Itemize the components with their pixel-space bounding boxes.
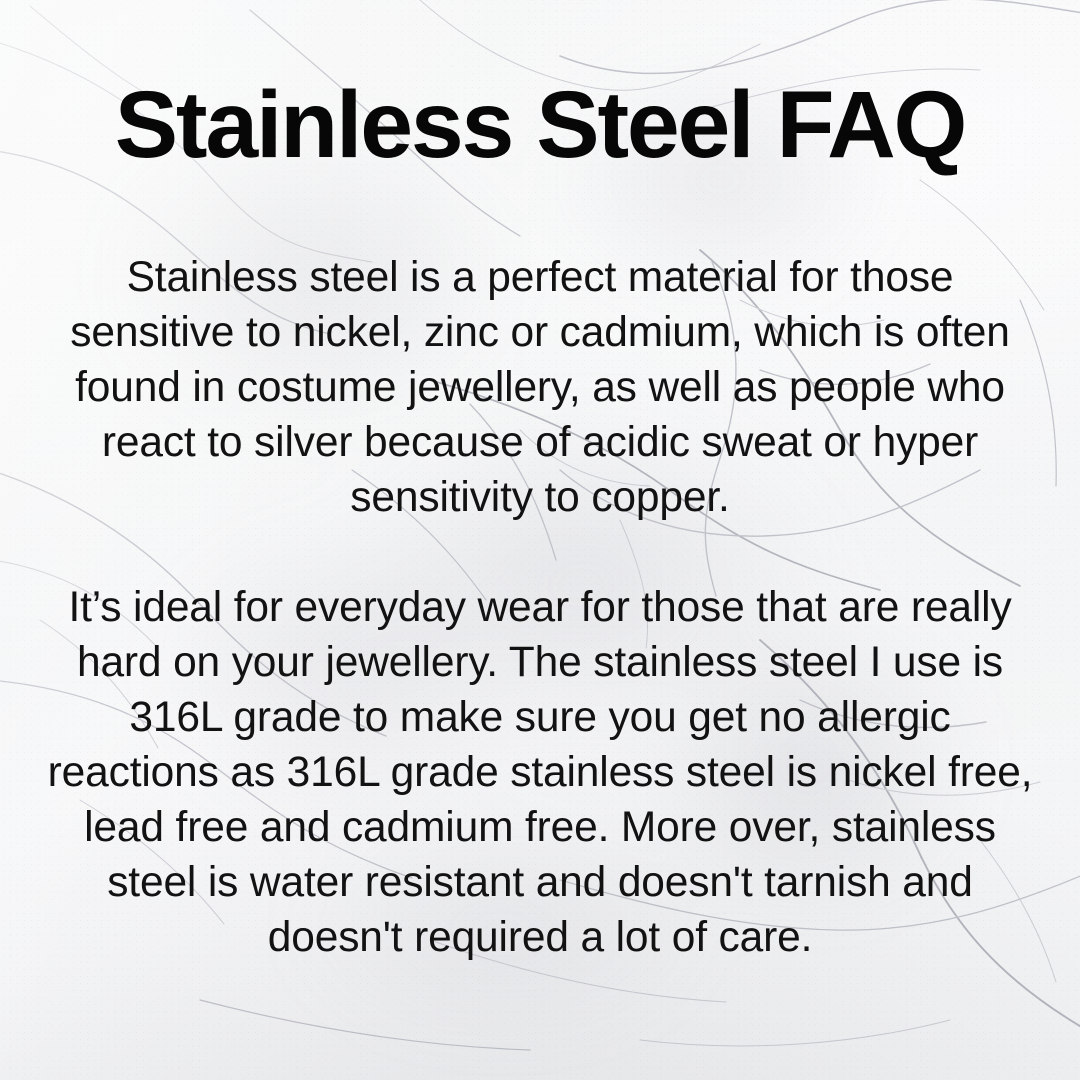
marble-faq-card: Stainless Steel FAQ Stainless steel is a…	[0, 0, 1080, 1080]
paragraph-details: It’s ideal for everyday wear for those t…	[44, 580, 1036, 965]
card-content: Stainless Steel FAQ Stainless steel is a…	[0, 0, 1080, 1080]
body-copy: Stainless steel is a perfect material fo…	[44, 250, 1036, 965]
page-title: Stainless Steel FAQ	[0, 78, 1080, 173]
paragraph-intro: Stainless steel is a perfect material fo…	[44, 250, 1036, 525]
